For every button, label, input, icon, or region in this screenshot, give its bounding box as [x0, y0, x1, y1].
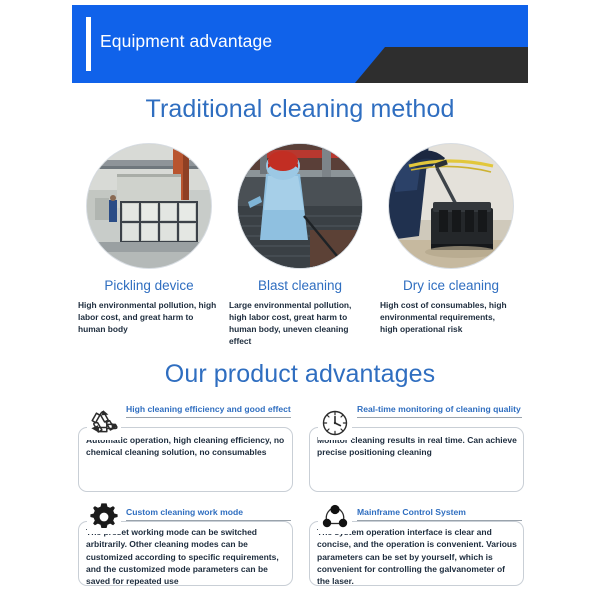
advantage-card: Mainframe Control System The system oper…	[309, 498, 524, 586]
pickling-device-photo	[86, 143, 212, 269]
traditional-method-item: Blast cleaning Large environmental pollu…	[229, 143, 371, 348]
traditional-method-description: High environmental pollution, high labor…	[78, 300, 219, 336]
section-title-advantages: Our product advantages	[0, 360, 600, 389]
advantage-card: High cleaning efficiency and good effect…	[78, 404, 293, 492]
recycle-icon	[87, 406, 121, 440]
advantage-card-heading: High cleaning efficiency and good effect	[126, 404, 291, 418]
traditional-methods-list: Pickling device High environmental pollu…	[78, 143, 522, 348]
traditional-method-caption: Dry ice cleaning	[403, 278, 499, 293]
section-title-traditional: Traditional cleaning method	[0, 95, 600, 124]
advantage-card-heading: Mainframe Control System	[357, 498, 522, 521]
advantage-card-body: The system operation interface is clear …	[317, 526, 517, 588]
network-nodes-icon	[318, 500, 352, 534]
advantages-grid: High cleaning efficiency and good effect…	[78, 404, 524, 586]
gear-icon	[87, 500, 121, 534]
traditional-method-description: Large environmental pollution, high labo…	[229, 300, 371, 348]
traditional-method-caption: Blast cleaning	[258, 278, 342, 293]
header-banner: Equipment advantage	[72, 5, 528, 83]
advantage-card: Custom cleaning work mode The preset wor…	[78, 498, 293, 586]
equipment-advantage-infographic: Equipment advantage Traditional cleaning…	[0, 0, 600, 600]
header-title: Equipment advantage	[100, 31, 272, 52]
dry-ice-cleaning-photo	[388, 143, 514, 269]
traditional-method-item: Pickling device High environmental pollu…	[78, 143, 220, 348]
advantage-card-body: The preset working mode can be switched …	[86, 526, 286, 588]
advantage-card: Real-time monitoring of cleaning quality…	[309, 404, 524, 492]
clock-icon	[318, 406, 352, 440]
blast-cleaning-photo	[237, 143, 363, 269]
header-accent-bar	[86, 17, 91, 71]
traditional-method-caption: Pickling device	[104, 278, 193, 293]
traditional-method-item: Dry ice cleaning High cost of consumable…	[380, 143, 522, 348]
advantage-card-heading: Custom cleaning work mode	[126, 498, 291, 521]
traditional-method-description: High cost of consumables, high environme…	[380, 300, 514, 336]
advantage-card-heading: Real-time monitoring of cleaning quality	[357, 404, 522, 418]
